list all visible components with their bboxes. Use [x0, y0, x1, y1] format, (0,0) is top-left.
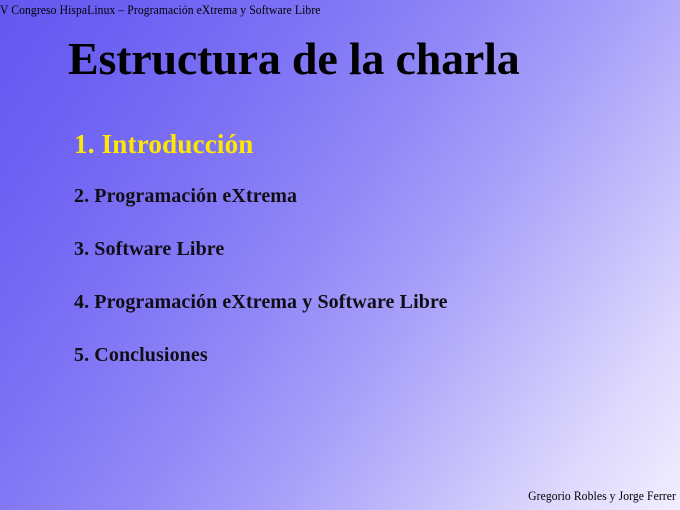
authors-text: Gregorio Robles y Jorge Ferrer	[528, 489, 676, 503]
agenda-item-label: 1. Introducción	[74, 129, 254, 159]
agenda-item-label: 5. Conclusiones	[74, 344, 208, 366]
agenda-item-label: 4. Programación eXtrema y Software Libre	[74, 291, 448, 313]
presentation-slide: V Congreso HispaLinux – Programación eXt…	[0, 0, 680, 510]
agenda-item-label: 2. Programación eXtrema	[74, 185, 297, 207]
agenda-item-programacion-extrema-y-software-libre[interactable]: 4. Programación eXtrema y Software Libre	[74, 290, 664, 343]
slide-footer: Gregorio Robles y Jorge Ferrer	[517, 487, 676, 505]
slide-header: V Congreso HispaLinux – Programación eXt…	[0, 1, 680, 17]
agenda-item-label: 3. Software Libre	[74, 238, 224, 260]
agenda-item-introduccion[interactable]: 1. Introducción	[74, 128, 664, 184]
agenda-list: 1. Introducción 2. Programación eXtrema …	[74, 128, 664, 396]
page-title: Estructura de la charla	[68, 33, 520, 85]
agenda-item-software-libre[interactable]: 3. Software Libre	[74, 237, 664, 290]
conference-title-text: V Congreso HispaLinux – Programación eXt…	[0, 3, 321, 17]
agenda-item-conclusiones[interactable]: 5. Conclusiones	[74, 343, 664, 396]
agenda-item-programacion-extrema[interactable]: 2. Programación eXtrema	[74, 184, 664, 237]
